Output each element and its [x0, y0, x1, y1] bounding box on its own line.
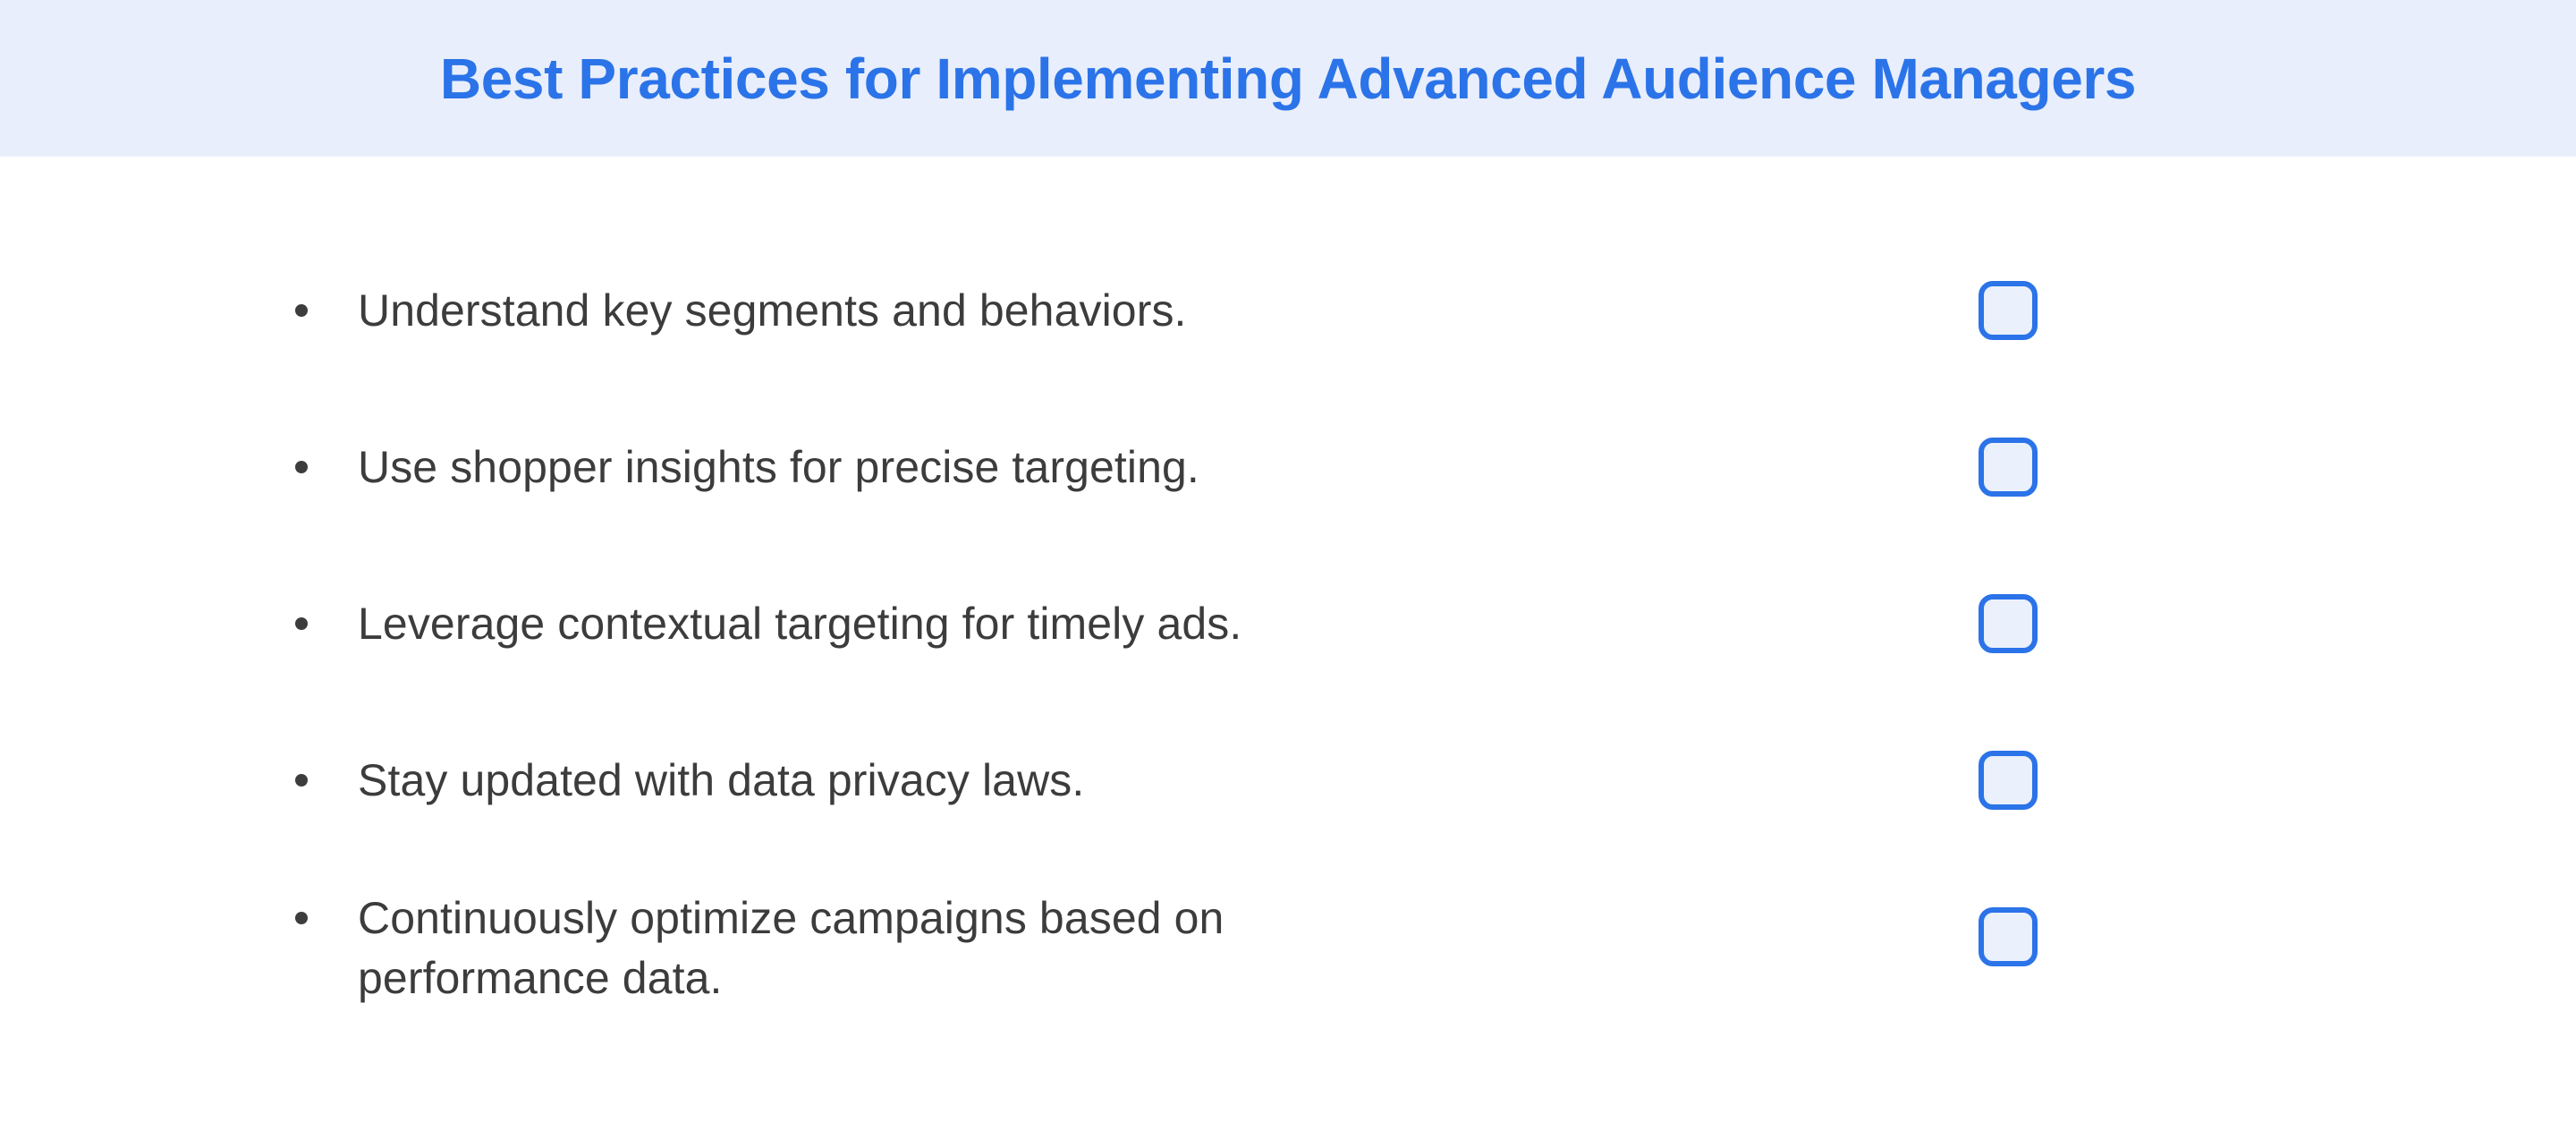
content-area: Understand key segments and behaviors. U… [0, 157, 2576, 1148]
bullet-icon [295, 304, 308, 317]
checkbox-item-5[interactable] [1979, 907, 2038, 966]
checkbox-item-3[interactable] [1979, 594, 2038, 653]
list-item-content: Stay updated with data privacy laws. [295, 751, 1084, 811]
list-item: Use shopper insights for precise targeti… [295, 419, 2308, 515]
list-item-content: Leverage contextual targeting for timely… [295, 594, 1241, 654]
list-item-content: Understand key segments and behaviors. [295, 281, 1187, 341]
list-item: Stay updated with data privacy laws. [295, 732, 2308, 829]
page-title: Best Practices for Implementing Advanced… [440, 50, 2136, 107]
document-page: Best Practices for Implementing Advanced… [0, 0, 2576, 1148]
list-item-label: Leverage contextual targeting for timely… [358, 594, 1241, 654]
header-band: Best Practices for Implementing Advanced… [0, 0, 2576, 157]
list-item: Leverage contextual targeting for timely… [295, 575, 2308, 672]
list-item-label: Continuously optimize campaigns based on… [358, 889, 1224, 1008]
checkbox-item-2[interactable] [1979, 438, 2038, 497]
list-item: Understand key segments and behaviors. [295, 262, 2308, 359]
bullet-icon [295, 617, 308, 630]
checkbox-item-1[interactable] [1979, 281, 2038, 340]
checkbox-item-4[interactable] [1979, 751, 2038, 810]
list-item: Continuously optimize campaigns based on… [295, 889, 2308, 1008]
list-item-label: Understand key segments and behaviors. [358, 281, 1187, 341]
best-practices-checklist: Understand key segments and behaviors. U… [295, 262, 2308, 1008]
bullet-icon [295, 461, 308, 473]
bullet-icon [295, 912, 308, 924]
bullet-icon [295, 774, 308, 787]
list-item-label: Use shopper insights for precise targeti… [358, 438, 1199, 497]
list-item-content: Use shopper insights for precise targeti… [295, 438, 1199, 497]
list-item-label: Stay updated with data privacy laws. [358, 751, 1084, 811]
list-item-content: Continuously optimize campaigns based on… [295, 889, 1224, 1008]
